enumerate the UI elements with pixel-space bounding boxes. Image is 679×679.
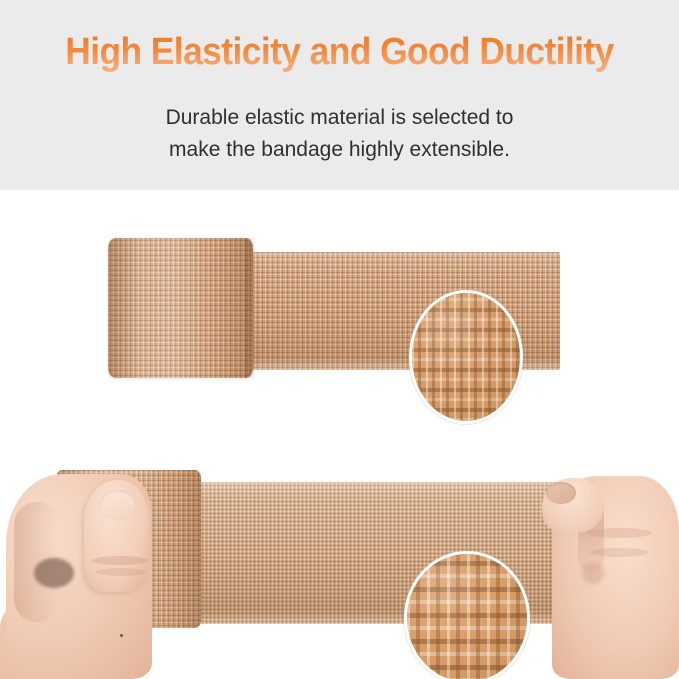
- right-knuckle-dip: [582, 562, 604, 584]
- bandage-roll-shading: [108, 238, 253, 378]
- left-finger-gap: [34, 558, 74, 588]
- bandage-roll-seam: [245, 238, 255, 378]
- rolled-bandage-panel: [0, 190, 679, 434]
- page-title: High Elasticity and Good Ductility: [24, 30, 655, 74]
- left-hand: [0, 452, 200, 679]
- magnifier-gloss: [407, 554, 527, 679]
- stretched-bandage-panel: [0, 434, 679, 679]
- right-thumbnail: [546, 482, 576, 504]
- right-hand: [538, 452, 679, 679]
- right-knuckle-crease: [590, 548, 648, 557]
- texture-magnifier: [409, 290, 523, 424]
- header-band: High Elasticity and Good Ductility Durab…: [0, 0, 679, 190]
- texture-magnifier: [404, 551, 530, 679]
- bandage-roll: [108, 238, 253, 378]
- fiber-speck: [120, 634, 123, 637]
- subtitle-line-1: Durable elastic material is selected to: [166, 106, 514, 129]
- page-subtitle: Durable elastic material is selected to …: [0, 102, 679, 166]
- left-thumb-crease: [96, 568, 146, 576]
- magnifier-gloss: [412, 293, 520, 421]
- left-thumbnail: [100, 490, 136, 520]
- left-thumb-crease: [92, 556, 148, 565]
- subtitle-line-2: make the bandage highly extensible.: [0, 134, 679, 166]
- right-knuckle-crease: [586, 528, 652, 538]
- product-feature-image: High Elasticity and Good Ductility Durab…: [0, 0, 679, 679]
